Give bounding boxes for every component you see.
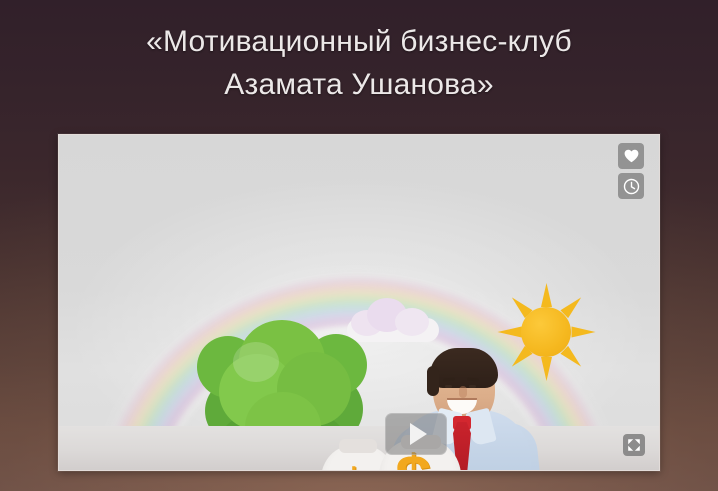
page-title: «Мотивационный бизнес-клуб Азамата Ушано… [0,20,718,106]
fullscreen-button[interactable] [623,434,645,456]
heart-icon [624,149,639,163]
watch-later-button[interactable] [618,173,644,199]
dollar-sign-left: $ [337,461,370,470]
fullscreen-icon [627,438,641,452]
play-button[interactable] [385,413,447,455]
page-root: «Мотивационный бизнес-клуб Азамата Ушано… [0,0,718,491]
player-side-controls [618,143,644,199]
play-triangle-icon [410,423,427,445]
favorite-button[interactable] [618,143,644,169]
video-player[interactable]: $ $ 100 100 [58,134,660,471]
clock-icon [623,178,640,195]
video-stage: $ $ 100 100 [59,135,659,470]
